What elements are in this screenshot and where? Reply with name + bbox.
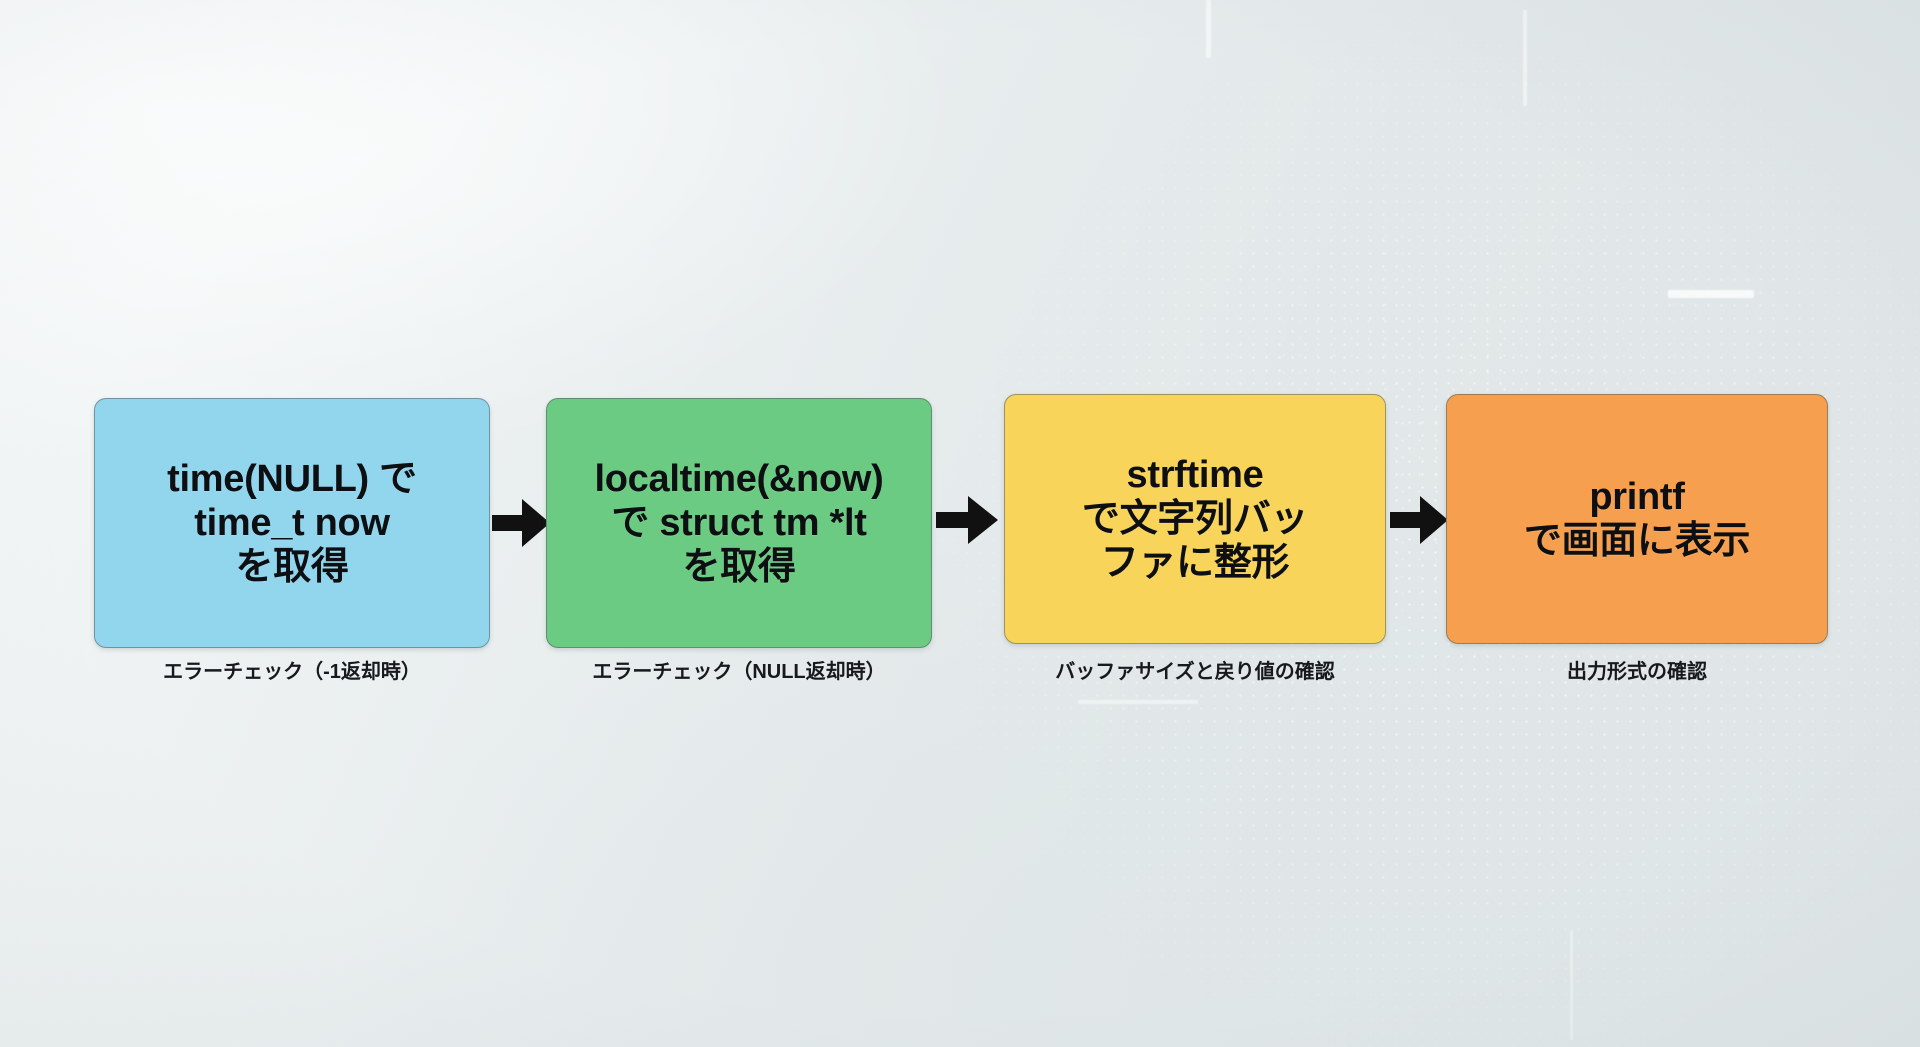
flow-node-caption: エラーチェック（-1返却時） [94,660,490,684]
arrow-right-icon [936,492,998,548]
flow-node-printf[interactable]: printf で画面に表示 [1446,394,1828,644]
arrow-right-icon [1390,492,1448,548]
flowchart: time(NULL) で time_t now を取得 エラーチェック（-1返却… [0,0,1920,1047]
flow-node-strftime[interactable]: strftime で文字列バッ ファに整形 [1004,394,1386,644]
arrow-right-icon [492,495,550,551]
flow-node-caption: 出力形式の確認 [1446,660,1828,684]
flow-node-label: strftime で文字列バッ ファに整形 [1076,453,1314,585]
flow-node-label: printf で画面に表示 [1518,475,1756,563]
flow-node-label: time(NULL) で time_t now を取得 [161,457,423,589]
flow-node-caption: バッファサイズと戻り値の確認 [1004,660,1386,684]
flow-node-localtime[interactable]: localtime(&now) で struct tm *lt を取得 [546,398,932,648]
flow-node-label: localtime(&now) で struct tm *lt を取得 [589,457,890,589]
flow-node-time[interactable]: time(NULL) で time_t now を取得 [94,398,490,648]
flow-node-caption: エラーチェック（NULL返却時） [546,660,932,684]
